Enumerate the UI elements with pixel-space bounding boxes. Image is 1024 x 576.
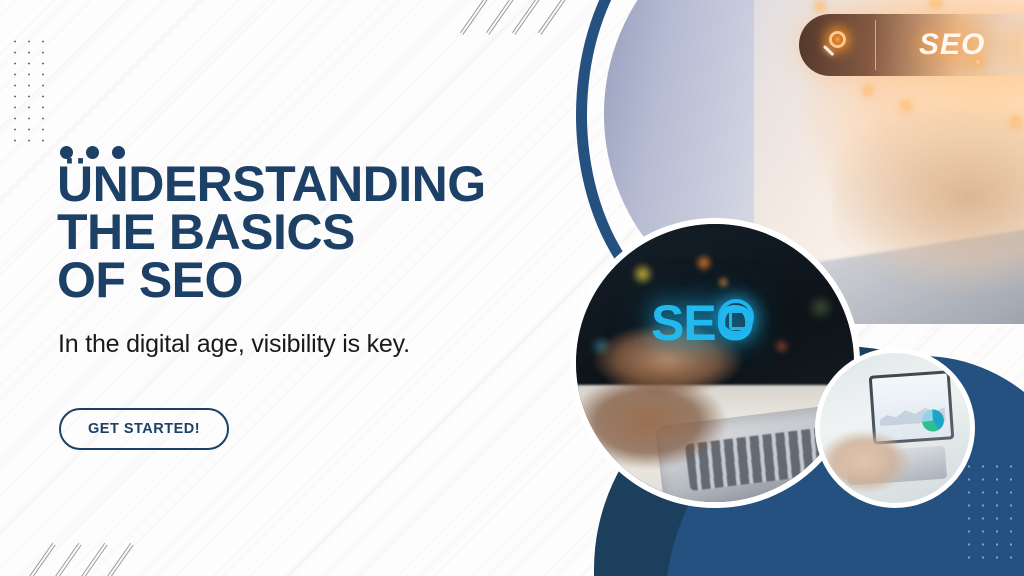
magnifier-icon: [829, 31, 846, 48]
glowing-search-bar: SEO: [799, 14, 1024, 76]
seo-hero-banner: SEO SEO: [0, 0, 1024, 576]
typing-hand-lower: [570, 363, 737, 491]
headline-line-2: THE BASICS: [57, 208, 577, 256]
search-bar-text: SEO: [919, 28, 985, 62]
dot-grid-bottom-right-icon: [960, 458, 1018, 568]
hand-holding-seo-photo: SEO: [570, 218, 860, 508]
headline-line-3: OF SEO: [57, 256, 577, 304]
photo-collage: SEO SEO: [560, 0, 1024, 576]
typing-hands: [815, 422, 916, 508]
gear-icon: [718, 299, 754, 335]
subtitle: In the digital age, visibility is key.: [58, 330, 410, 359]
laptop-analytics-photo: [815, 348, 975, 508]
dot-grid-left-icon: [6, 34, 46, 150]
search-bar-divider: [875, 20, 876, 70]
headline-line-1: ÜNDERSTANDING: [57, 160, 577, 208]
page-title: ÜNDERSTANDING THE BASICS OF SEO: [57, 160, 577, 304]
text-content: ÜNDERSTANDING THE BASICS OF SEO In the d…: [57, 0, 577, 576]
typing-hand: [833, 89, 1024, 324]
get-started-button[interactable]: GET STARTED!: [59, 408, 229, 450]
